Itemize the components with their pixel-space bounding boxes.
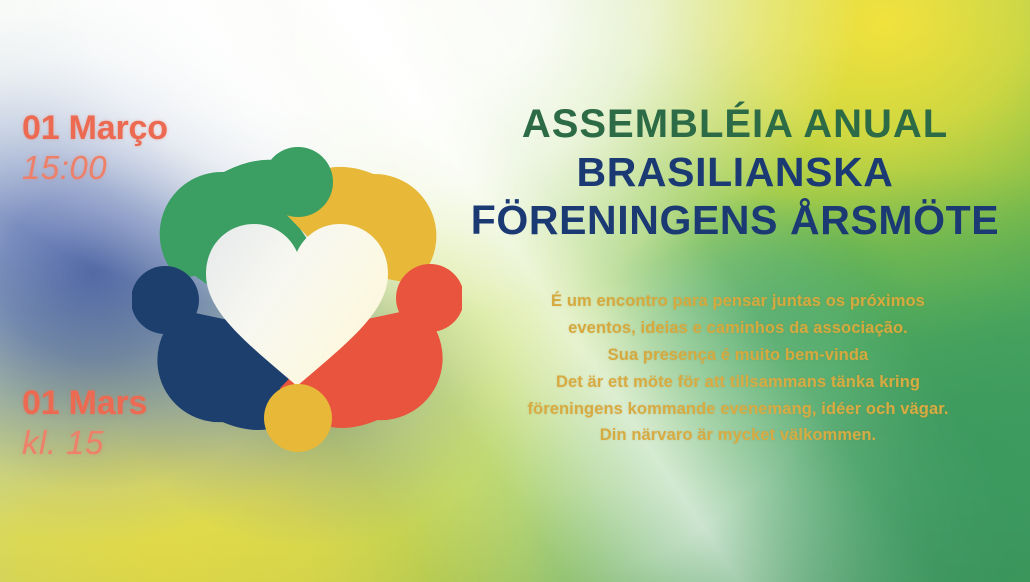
people-heart-logo	[132, 128, 462, 460]
body-pt-line-1: É um encontro para pensar juntas os próx…	[455, 288, 1021, 315]
head-red-circle	[396, 264, 462, 332]
body-pt-line-2: eventos, ideias e caminhos da associação…	[455, 315, 1021, 342]
head-navy-circle	[132, 266, 199, 334]
date-block-portuguese: 01 Março 15:00	[22, 110, 168, 187]
body-copy-block: É um encontro para pensar juntas os próx…	[455, 288, 1021, 449]
headline-line-1: ASSEMBLÉIA ANUAL	[452, 102, 1018, 147]
body-sv-line-2: föreningens kommande evenemang, idéer oc…	[455, 396, 1021, 423]
body-pt-line-3: Sua presença é muito bem-vinda	[455, 342, 1021, 369]
body-sv-line-3: Din närvaro är mycket välkommen.	[455, 422, 1021, 449]
head-green-circle	[263, 147, 333, 217]
body-sv-line-1: Det är ett möte för att tillsammans tänk…	[455, 369, 1021, 396]
headline-block: ASSEMBLÉIA ANUAL BRASILIANSKA FÖRENINGEN…	[452, 102, 1018, 243]
headline-line-2: BRASILIANSKA	[452, 149, 1018, 195]
date-day-swedish: 01 Mars	[22, 385, 147, 422]
date-time-swedish: kl. 15	[22, 424, 147, 462]
head-yellow-circle	[264, 384, 332, 452]
event-poster: 01 Março 15:00 01 Mars kl. 15	[0, 0, 1030, 582]
headline-line-3: FÖRENINGENS ÅRSMÖTE	[452, 197, 1018, 243]
date-time-portuguese: 15:00	[22, 149, 168, 187]
date-day-portuguese: 01 Março	[22, 110, 168, 147]
date-block-swedish: 01 Mars kl. 15	[22, 385, 147, 462]
